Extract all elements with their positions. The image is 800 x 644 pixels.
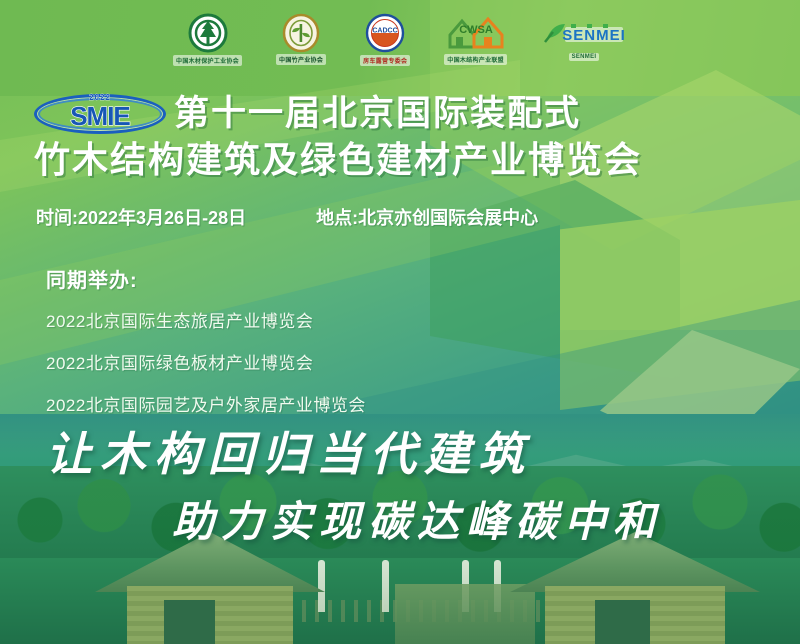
patio-umbrella-icon bbox=[382, 560, 389, 612]
concurrent-heading: 同期举办: bbox=[46, 264, 566, 293]
cwsa-china-wood-structure-association-logo: CWSA 中国木结构产业联盟 bbox=[444, 13, 507, 65]
list-item: 2022北京国际绿色板材产业博览会 bbox=[46, 349, 566, 374]
list-item: 2022北京国际生态旅居产业博览会 bbox=[46, 307, 566, 332]
senmei-leaf-wordmark-icon: SENMEI bbox=[541, 18, 627, 52]
cadcc-emblem-icon: CADCC bbox=[364, 12, 406, 54]
exhibition-poster: 中国木材保护工业协会 中国竹产业协会 bbox=[0, 0, 800, 644]
logo-caption: 中国木材保护工业协会 bbox=[173, 55, 242, 66]
concurrent-events-list: 2022北京国际生态旅居产业博览会 2022北京国际绿色板材产业博览会 2022… bbox=[46, 307, 566, 416]
svg-text:CADCC: CADCC bbox=[373, 28, 398, 35]
svg-text:SENMEI: SENMEI bbox=[562, 27, 626, 44]
list-item: 2022北京国际园艺及户外家居产业博览会 bbox=[46, 391, 566, 416]
concurrent-events-block: 同期举办: 2022北京国际生态旅居产业博览会 2022北京国际绿色板材产业博览… bbox=[46, 264, 566, 433]
gold-bamboo-emblem-icon bbox=[281, 13, 321, 53]
bamboo-industry-association-logo: 中国竹产业协会 bbox=[276, 13, 326, 65]
logo-caption: 中国竹产业协会 bbox=[276, 54, 326, 65]
headline-block: 2022 SMIE 第十一届北京国际装配式 竹木结构建筑及绿色建材产业博览会 bbox=[34, 92, 774, 180]
slogan-line1: 让木构回归当代建筑 bbox=[46, 418, 532, 484]
china-timber-protection-association-logo: 中国木材保护工业协会 bbox=[173, 12, 242, 66]
smie-logo: 2022 SMIE bbox=[34, 92, 166, 136]
association-logo-strip: 中国木材保护工业协会 中国竹产业协会 bbox=[0, 8, 800, 70]
svg-text:CWSA: CWSA bbox=[459, 24, 493, 36]
headline-row: 2022 SMIE 第十一届北京国际装配式 bbox=[34, 92, 774, 136]
event-meta: 时间:2022年3月26日-28日 地点:北京亦创国际会展中心 bbox=[36, 204, 776, 230]
cabin-door bbox=[595, 600, 650, 644]
green-tree-emblem-icon bbox=[187, 12, 229, 54]
page-title-line2: 竹木结构建筑及绿色建材产业博览会 bbox=[34, 140, 774, 180]
page-title-line1: 第十一届北京国际装配式 bbox=[174, 96, 581, 133]
cabin-door bbox=[164, 600, 215, 644]
senmei-logo: SENMEI SENMEI bbox=[541, 18, 627, 61]
logo-caption: 中国木结构产业联盟 bbox=[444, 54, 507, 65]
logo-caption: SENMEI bbox=[569, 53, 600, 61]
event-date: 时间:2022年3月26日-28日 bbox=[36, 204, 246, 230]
slogan-line2: 助力实现碳达峰碳中和 bbox=[172, 488, 662, 549]
smie-wordmark: SMIE bbox=[70, 103, 130, 129]
cwsa-house-emblem-icon: CWSA bbox=[446, 13, 506, 53]
cadcc-rv-camping-committee-logo: CADCC 房车露营专委会 bbox=[360, 12, 410, 66]
logo-caption: 房车露营专委会 bbox=[360, 55, 410, 66]
event-venue: 地点:北京亦创国际会展中心 bbox=[316, 204, 538, 230]
